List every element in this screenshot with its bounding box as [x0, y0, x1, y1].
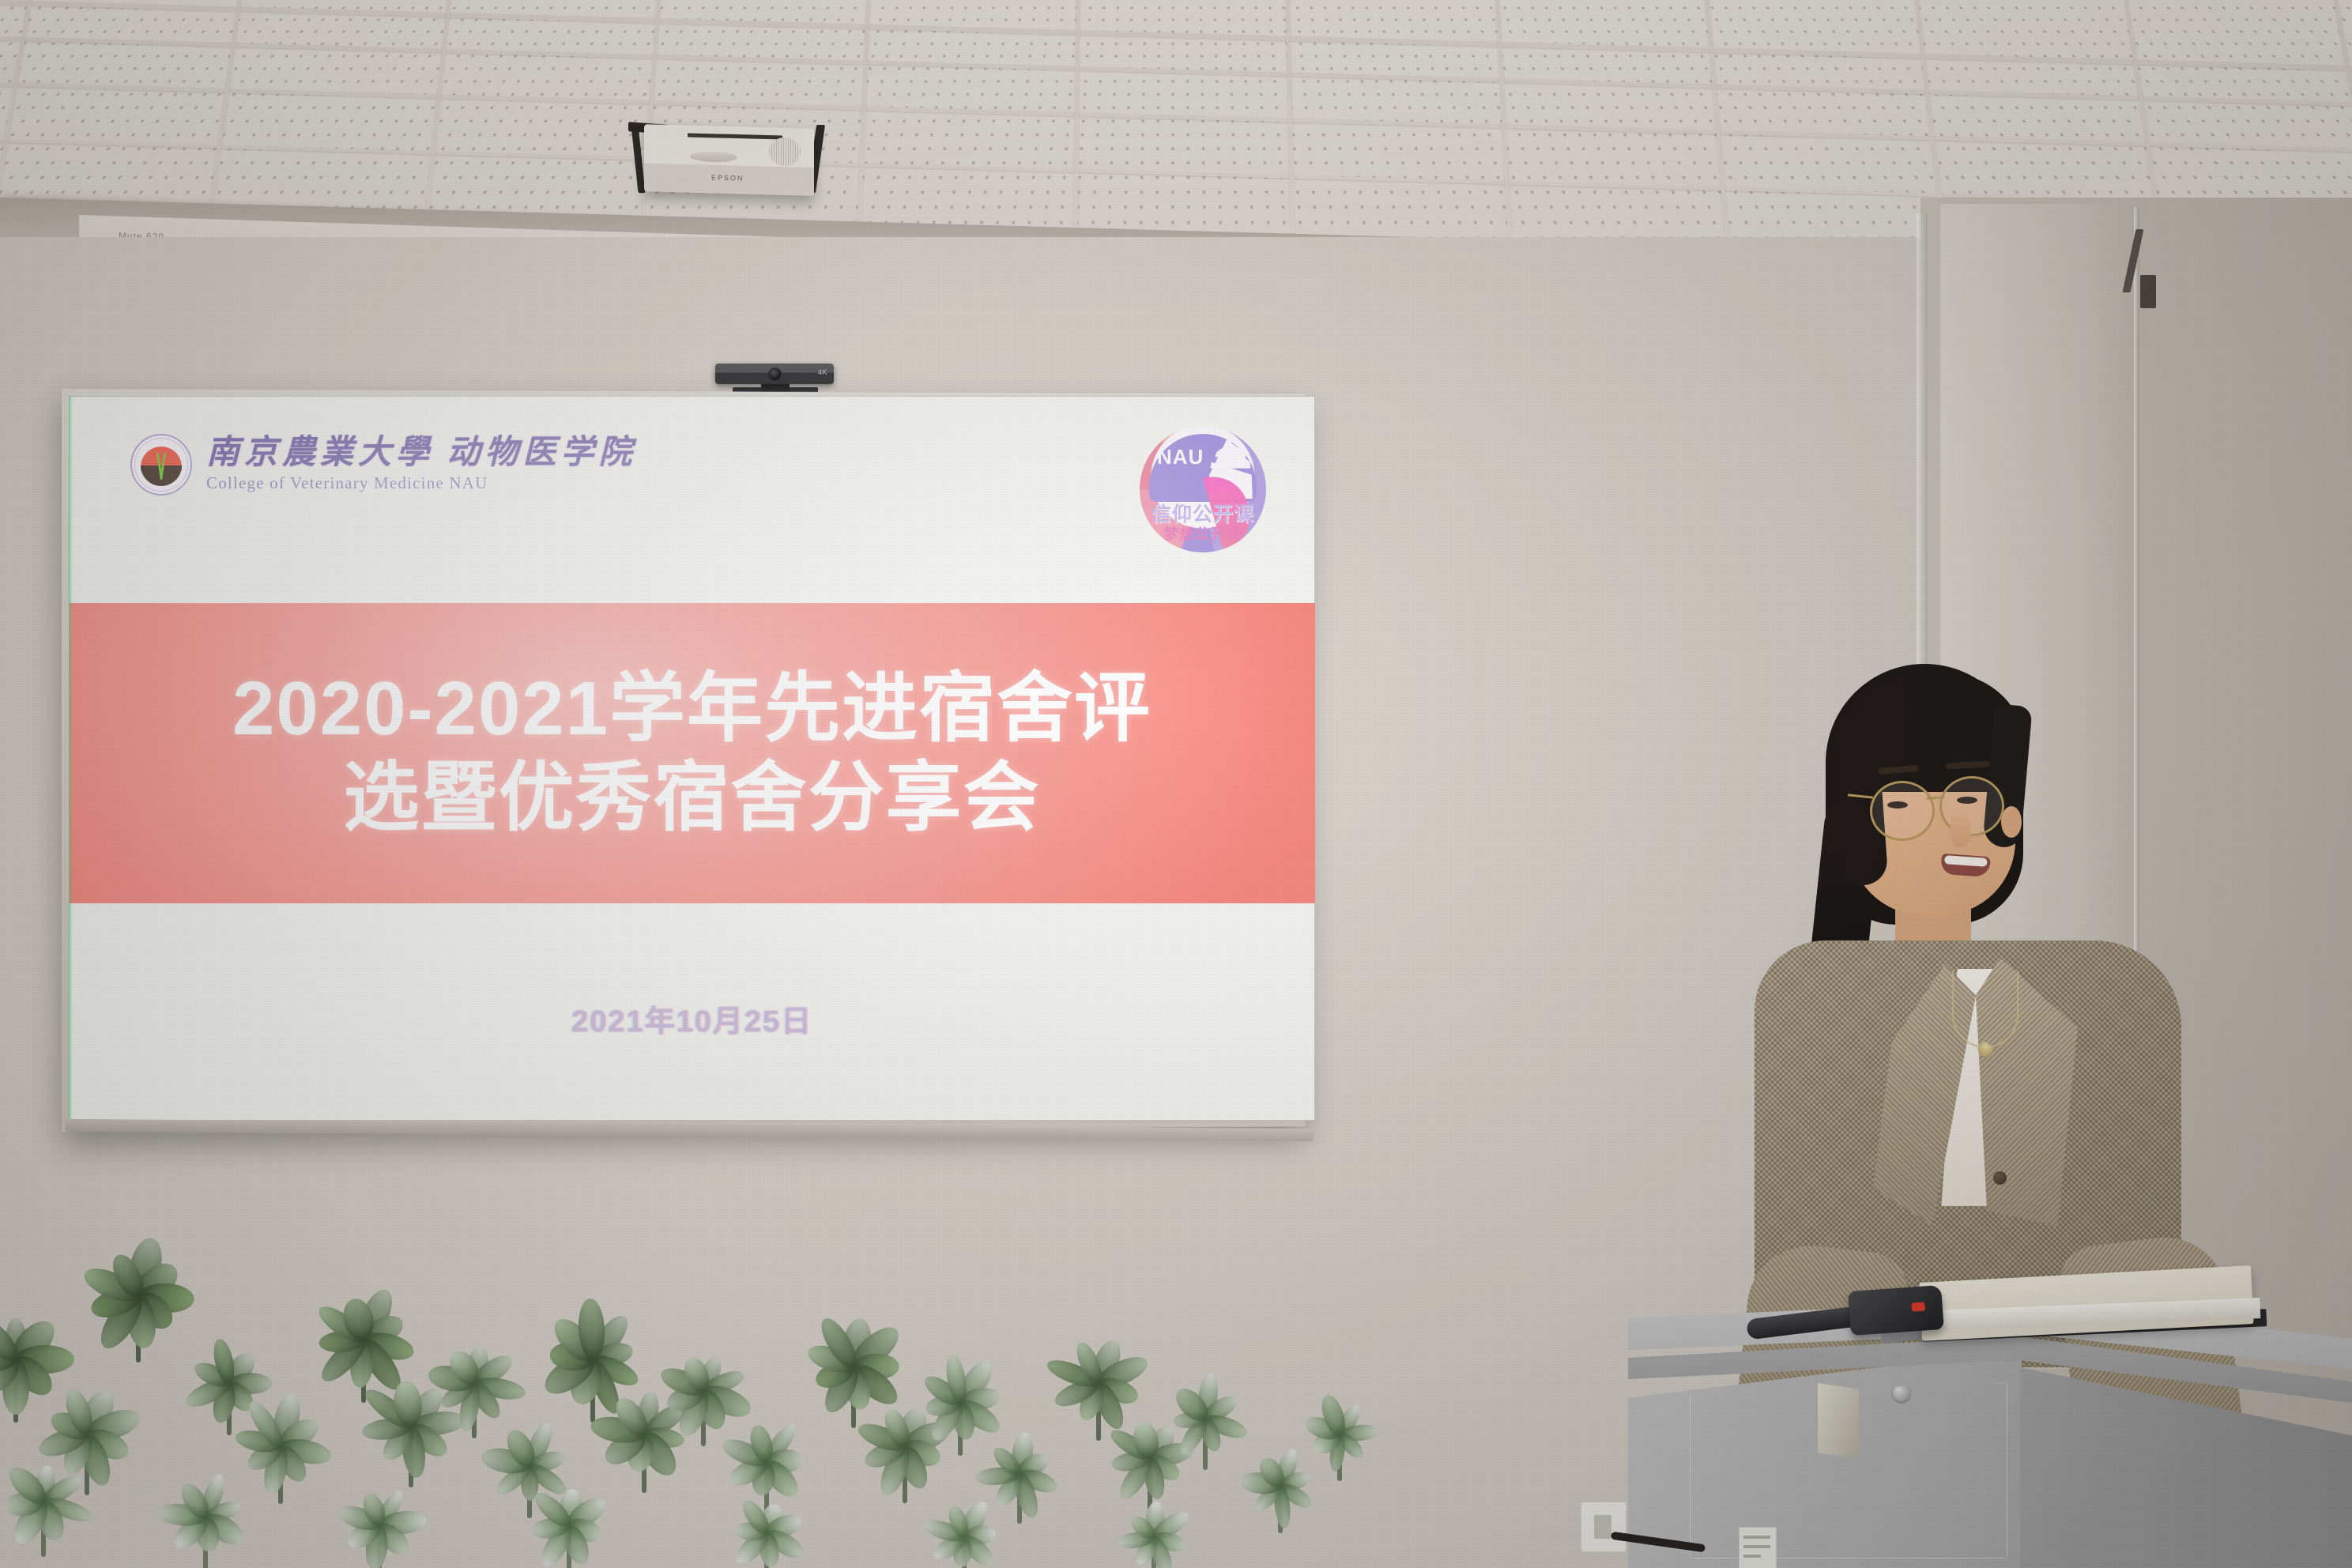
camera-lens-icon [769, 368, 781, 380]
lectern-handle[interactable] [1818, 1383, 1859, 1459]
camera-body: 4K [715, 364, 834, 384]
nau-crest-icon [130, 434, 192, 496]
presenter-ear [2001, 806, 2022, 838]
logo-chinese-name: 南京農業大學 动物医学院 [206, 436, 637, 469]
slide-date: 2021年10月25日 [69, 997, 1315, 1040]
laser-button-icon[interactable] [1911, 1302, 1925, 1311]
projector-arm-left [631, 125, 645, 193]
presentation-slide: 南京農業大學 动物医学院 College of Veterinary Medic… [69, 396, 1315, 1121]
presenter-nose [1951, 814, 1971, 847]
projector-brand-label: EPSON [711, 173, 744, 182]
slide-logo: 南京農業大學 动物医学院 College of Veterinary Medic… [130, 434, 637, 496]
slide-title-band: 2020-2021学年先进宿舍评 选暨优秀宿舍分享会 [69, 603, 1315, 903]
lectern-side-panel [2020, 1367, 2352, 1568]
blazer-button-icon [1993, 1171, 2007, 1185]
presenter [1723, 656, 2213, 1367]
wall-power-outlet[interactable] [1581, 1502, 1626, 1552]
slide-title-line-2: 选暨优秀宿舍分享会 [344, 753, 1041, 842]
lectern[interactable] [1628, 1265, 2352, 1568]
ceiling-bracket-icon [2126, 229, 2158, 308]
glasses-lens-right-icon [1939, 776, 2004, 836]
indoor-plants [0, 1265, 1470, 1568]
badge-acronym: NAU [1157, 445, 1204, 469]
slide-title-line-1: 2020-2021学年先进宿舍评 [232, 664, 1151, 753]
glasses-lens-left-icon [1870, 781, 1935, 841]
projection-screen[interactable]: 南京農業大學 动物医学院 College of Veterinary Medic… [62, 389, 1323, 1132]
camera-4k-label: 4K [818, 368, 827, 376]
nau-open-course-badge: NAU 信仰公开课 梦想公开课 [1140, 426, 1266, 552]
presenter-remote[interactable] [1848, 1285, 1944, 1336]
ceiling-projector: EPSON [628, 119, 830, 202]
lecture-room-scene: Mute 620 EPSON 4K [0, 0, 2352, 1568]
badge-line-2: 梦想公开课 [1157, 522, 1249, 544]
lectern-label-sticker [1739, 1527, 1777, 1568]
projector-vent-icon [769, 137, 801, 166]
screen-surface[interactable]: 南京農業大學 动物医学院 College of Veterinary Medic… [69, 396, 1315, 1121]
presenter-necklace [1952, 971, 2018, 1048]
logo-english-name: College of Veterinary Medicine NAU [206, 473, 637, 493]
lectern-lock-icon[interactable] [1893, 1385, 1910, 1402]
